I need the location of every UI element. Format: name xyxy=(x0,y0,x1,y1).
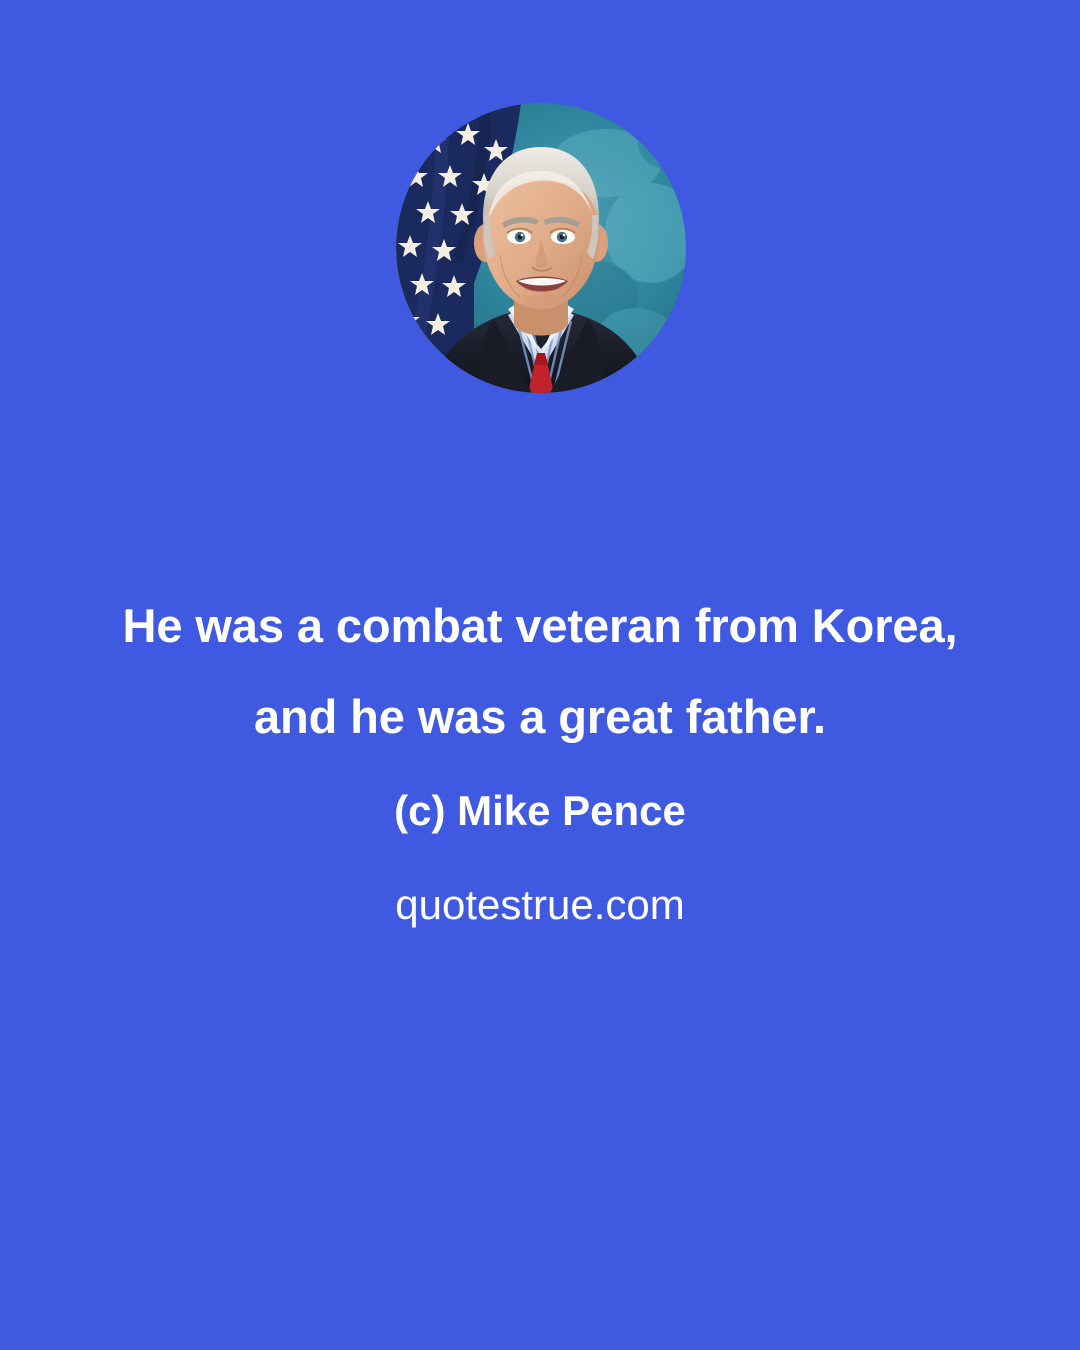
quote-text: He was a combat veteran from Korea, and … xyxy=(0,580,1080,762)
site-watermark: quotestrue.com xyxy=(0,877,1080,933)
quote-card: He was a combat veteran from Korea, and … xyxy=(0,0,1080,1350)
quote-line: He was a combat veteran from Korea, xyxy=(0,580,1080,671)
author-attribution: (c) Mike Pence xyxy=(0,783,1080,839)
author-portrait-wrapper xyxy=(396,103,686,393)
quote-line: and he was a great father. xyxy=(0,671,1080,762)
author-portrait xyxy=(396,103,686,393)
